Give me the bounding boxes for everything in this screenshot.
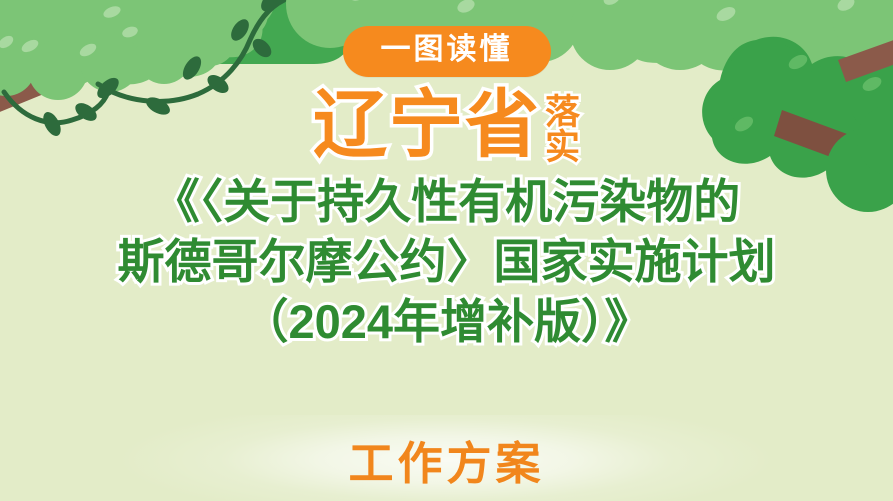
document-title: 《〈关于持久性有机污染物的 斯德哥尔摩公约〉国家实施计划 （2024年增补版）》 bbox=[118, 172, 776, 352]
implement-char-2: 实 bbox=[545, 130, 580, 166]
poster-root: 一图读懂 辽宁省 落 实 《〈关于持久性有机污染物的 斯德哥尔摩公约〉国家实施计… bbox=[0, 0, 893, 501]
document-title-line-1: 《〈关于持久性有机污染物的 bbox=[118, 172, 776, 232]
implement-char-1: 落 bbox=[545, 95, 580, 131]
work-plan-label: 工作方案 bbox=[0, 439, 893, 489]
document-title-line-3: （2024年增补版）》 bbox=[118, 292, 776, 352]
read-in-one-image-badge: 一图读懂 bbox=[343, 26, 551, 77]
document-title-line-2: 斯德哥尔摩公约〉国家实施计划 bbox=[118, 232, 776, 292]
content-stack: 一图读懂 辽宁省 落 实 《〈关于持久性有机污染物的 斯德哥尔摩公约〉国家实施计… bbox=[0, 0, 893, 501]
province-headline-row: 辽宁省 落 实 bbox=[313, 89, 580, 166]
implement-stacked-text: 落 实 bbox=[545, 95, 580, 166]
province-name: 辽宁省 bbox=[313, 89, 541, 160]
